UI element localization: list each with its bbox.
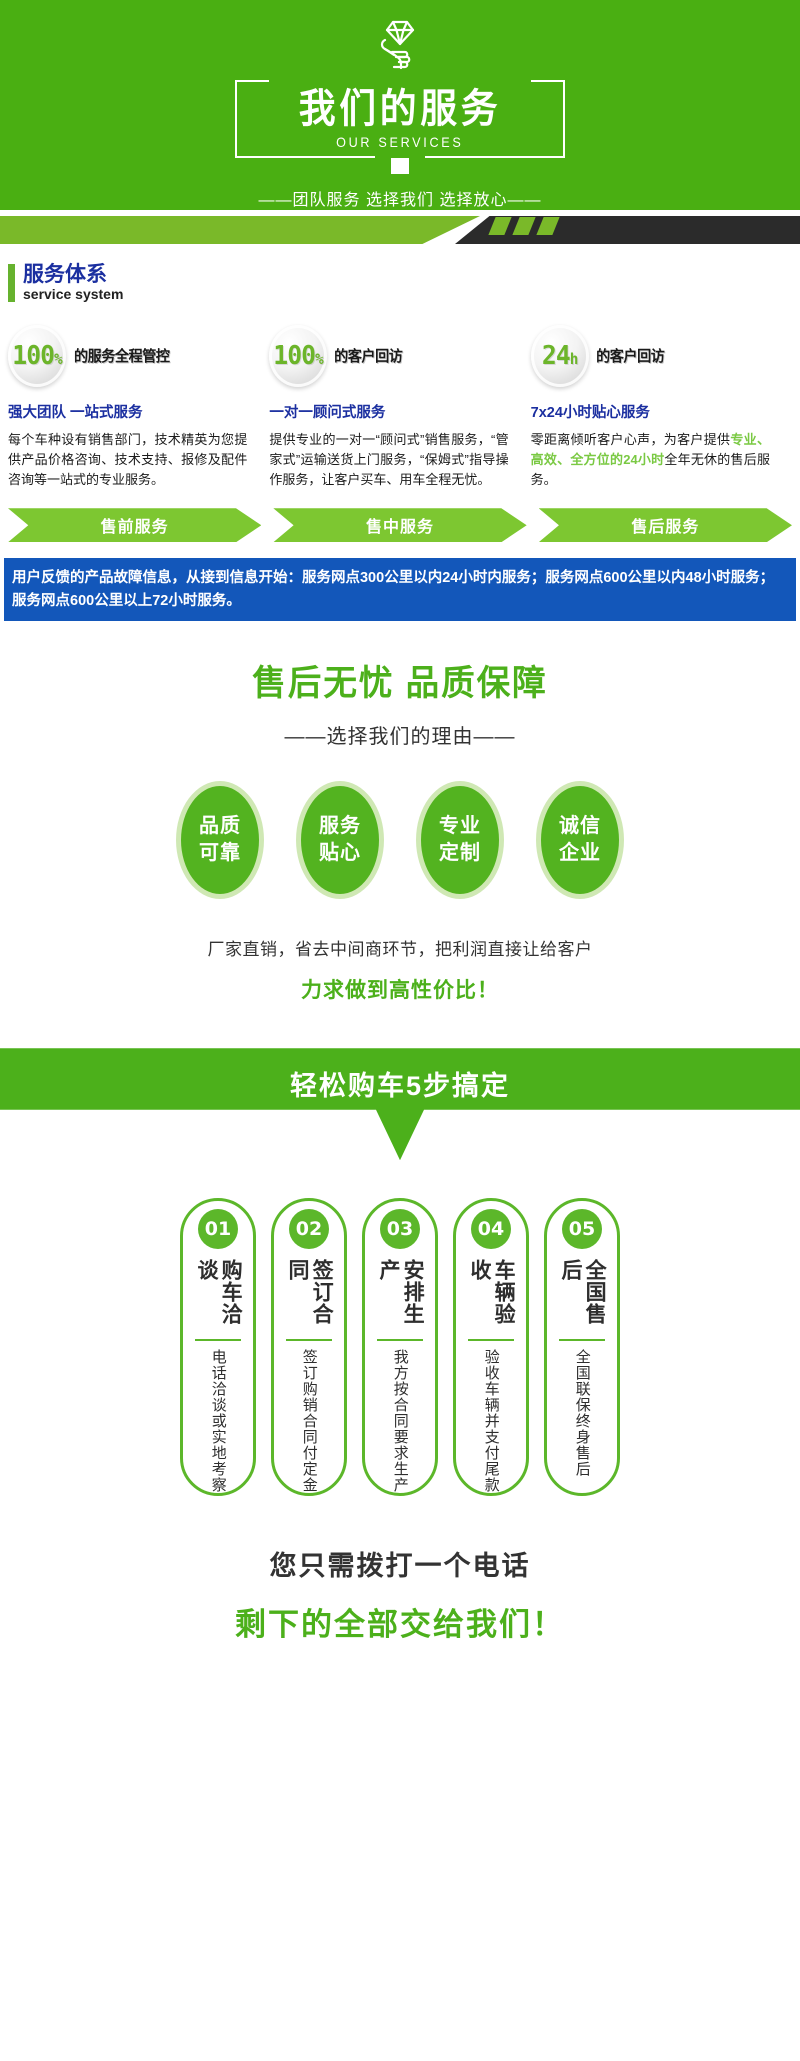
stat-badge-label-2: 的客户回访 xyxy=(335,345,403,366)
frame-side-left xyxy=(235,80,237,158)
decorative-ribbon xyxy=(0,210,800,252)
chevron-pre-sales[interactable]: 售前服务 xyxy=(8,508,261,542)
step-number-04: 04 xyxy=(471,1209,511,1249)
reason-badge-integrity: 诚信 企业 xyxy=(536,781,624,899)
frame-bottom-right xyxy=(425,156,565,158)
step-divider-05 xyxy=(559,1339,605,1341)
footer-call-to-action: 您只需拨打一个电话 剩下的全部交给我们！ xyxy=(0,1544,800,1674)
factory-direct-block: 厂家直销，省去中间商环节，把利润直接让给客户 力求做到高性价比！ xyxy=(0,935,800,1004)
diamond-hand-icon xyxy=(372,16,428,76)
step-card-05: 05 全国售后 全国联保终身售后 xyxy=(544,1198,620,1496)
section-title-en: service system xyxy=(23,286,123,303)
hero-frame-tab xyxy=(391,158,409,174)
stat-card-2: 100% 的客户回访 一对一顾问式服务 提供专业的一对一“顾问式”销售服务，“管… xyxy=(269,325,530,490)
stat-badge-row-1: 100% 的服务全程管控 xyxy=(8,325,261,387)
stat-title-2: 一对一顾问式服务 xyxy=(269,401,522,422)
step-card-03: 03 安排生产 我方按合同要求生产 xyxy=(362,1198,438,1496)
stat-badge-circle-3: 24h xyxy=(531,325,589,387)
stat-badge-number-2: 100% xyxy=(274,341,323,371)
stat-title-3: 7x24小时贴心服务 xyxy=(531,401,784,422)
reason-badge-service-line1: 服务 xyxy=(319,813,361,840)
chevron-during-sales[interactable]: 售中服务 xyxy=(273,508,526,542)
step-title-04: 车辆验收 xyxy=(467,1259,515,1331)
stat-body-2: 提供专业的一对一“顾问式”销售服务，“管家式”运输送货上门服务，“保姆式”指导操… xyxy=(269,430,522,490)
step-divider-01 xyxy=(195,1339,241,1341)
step-desc-04: 验收车辆并支付尾款 xyxy=(481,1349,501,1493)
step-number-05: 05 xyxy=(562,1209,602,1249)
reason-badge-quality: 品质 可靠 xyxy=(176,781,264,899)
frame-corner-top-left xyxy=(235,80,269,114)
reason-badge-custom: 专业 定制 xyxy=(416,781,504,899)
reason-badges-row: 品质 可靠 服务 贴心 专业 定制 诚信 企业 xyxy=(0,781,800,899)
stat-body-highlight-b: 24小时 xyxy=(623,452,664,467)
reasons-headline-block: 售后无忧 品质保障 ——选择我们的理由—— xyxy=(0,655,800,749)
reason-badge-custom-line1: 专业 xyxy=(439,813,481,840)
stat-body-1: 每个车种设有销售部门，技术精英为您提供产品价格咨询、技术支持、报修及配件咨询等一… xyxy=(8,430,261,490)
step-card-01: 01 购车洽谈 电话洽谈或实地考察 xyxy=(180,1198,256,1496)
step-title-03: 安排生产 xyxy=(376,1259,424,1331)
step-desc-02: 签订购销合同付定金 xyxy=(299,1349,319,1493)
cta-line-2: 剩下的全部交给我们！ xyxy=(0,1599,800,1644)
reason-badge-quality-line1: 品质 xyxy=(199,813,241,840)
reason-badge-integrity-line1: 诚信 xyxy=(559,813,601,840)
ribbon-green-band xyxy=(0,216,480,244)
cta-line-1: 您只需拨打一个电话 xyxy=(0,1544,800,1583)
section-heading-service-system: 服务体系 service system xyxy=(0,252,800,303)
frame-bottom-left xyxy=(235,156,375,158)
stat-badge-number-3: 24h xyxy=(542,341,577,371)
purchase-steps-row: 01 购车洽谈 电话洽谈或实地考察 02 签订合同 签订购销合同付定金 03 安… xyxy=(0,1198,800,1496)
hero-banner: 我们的服务 OUR SERVICES ——团队服务 选择我们 选择放心—— xyxy=(0,0,800,210)
step-card-02: 02 签订合同 签订购销合同付定金 xyxy=(271,1198,347,1496)
stat-badge-label-1: 的服务全程管控 xyxy=(74,345,169,366)
service-phase-chevrons: 售前服务 售中服务 售后服务 xyxy=(0,490,800,542)
service-response-notice: 用户反馈的产品故障信息，从接到信息开始：服务网点300公里以内24小时内服务；服… xyxy=(4,558,796,621)
frame-corner-top-right xyxy=(531,80,565,114)
stat-body-3: 零距离倾听客户心声，为客户提供专业、高效、全方位的24小时全年无休的售后服务。 xyxy=(531,430,784,490)
frame-side-right xyxy=(563,80,565,158)
stat-badge-row-2: 100% 的客户回访 xyxy=(269,325,522,387)
stat-title-1: 强大团队 一站式服务 xyxy=(8,401,261,422)
step-divider-04 xyxy=(468,1339,514,1341)
step-card-04: 04 车辆验收 验收车辆并支付尾款 xyxy=(453,1198,529,1496)
five-steps-banner-text: 轻松购车5步搞定 xyxy=(290,1064,510,1103)
factory-line-1: 厂家直销，省去中间商环节，把利润直接让给客户 xyxy=(0,935,800,960)
hero-subtitle-en: OUR SERVICES xyxy=(336,134,463,150)
step-title-01: 购车洽谈 xyxy=(194,1259,242,1331)
reason-badge-service: 服务 贴心 xyxy=(296,781,384,899)
step-desc-01: 电话洽谈或实地考察 xyxy=(208,1349,228,1493)
service-stats-row: 100% 的服务全程管控 强大团队 一站式服务 每个车种设有销售部门，技术精英为… xyxy=(0,303,800,490)
reasons-subheadline: ——选择我们的理由—— xyxy=(0,720,800,749)
stat-badge-circle-2: 100% xyxy=(269,325,327,387)
step-title-02: 签订合同 xyxy=(285,1259,333,1331)
hero-title-frame: 我们的服务 OUR SERVICES xyxy=(235,80,565,158)
step-title-05: 全国售后 xyxy=(558,1259,606,1331)
step-divider-03 xyxy=(377,1339,423,1341)
step-desc-03: 我方按合同要求生产 xyxy=(390,1349,410,1493)
stat-card-3: 24h 的客户回访 7x24小时贴心服务 零距离倾听客户心声，为客户提供专业、高… xyxy=(531,325,792,490)
step-number-02: 02 xyxy=(289,1209,329,1249)
stat-badge-circle-1: 100% xyxy=(8,325,66,387)
stat-badge-label-3: 的客户回访 xyxy=(596,345,664,366)
stat-card-1: 100% 的服务全程管控 强大团队 一站式服务 每个车种设有销售部门，技术精英为… xyxy=(8,325,269,490)
factory-line-2: 力求做到高性价比！ xyxy=(0,974,800,1004)
step-number-01: 01 xyxy=(198,1209,238,1249)
reasons-headline: 售后无忧 品质保障 xyxy=(16,655,784,706)
chevron-after-sales[interactable]: 售后服务 xyxy=(539,508,792,542)
heading-accent-bar xyxy=(8,264,15,302)
reason-badge-quality-line2: 可靠 xyxy=(199,840,241,867)
section-title-cn: 服务体系 xyxy=(23,264,123,286)
hero-title: 我们的服务 xyxy=(299,88,501,130)
step-divider-02 xyxy=(286,1339,332,1341)
five-steps-banner: 轻松购车5步搞定 xyxy=(0,1048,800,1160)
reason-badge-service-line2: 贴心 xyxy=(319,840,361,867)
step-desc-05: 全国联保终身售后 xyxy=(572,1349,592,1477)
stat-badge-row-3: 24h 的客户回访 xyxy=(531,325,784,387)
reason-badge-custom-line2: 定制 xyxy=(439,840,481,867)
step-number-03: 03 xyxy=(380,1209,420,1249)
stat-badge-number-1: 100% xyxy=(12,341,61,371)
reason-badge-integrity-line2: 企业 xyxy=(559,840,601,867)
hero-tagline: ——团队服务 选择我们 选择放心—— xyxy=(259,186,542,210)
